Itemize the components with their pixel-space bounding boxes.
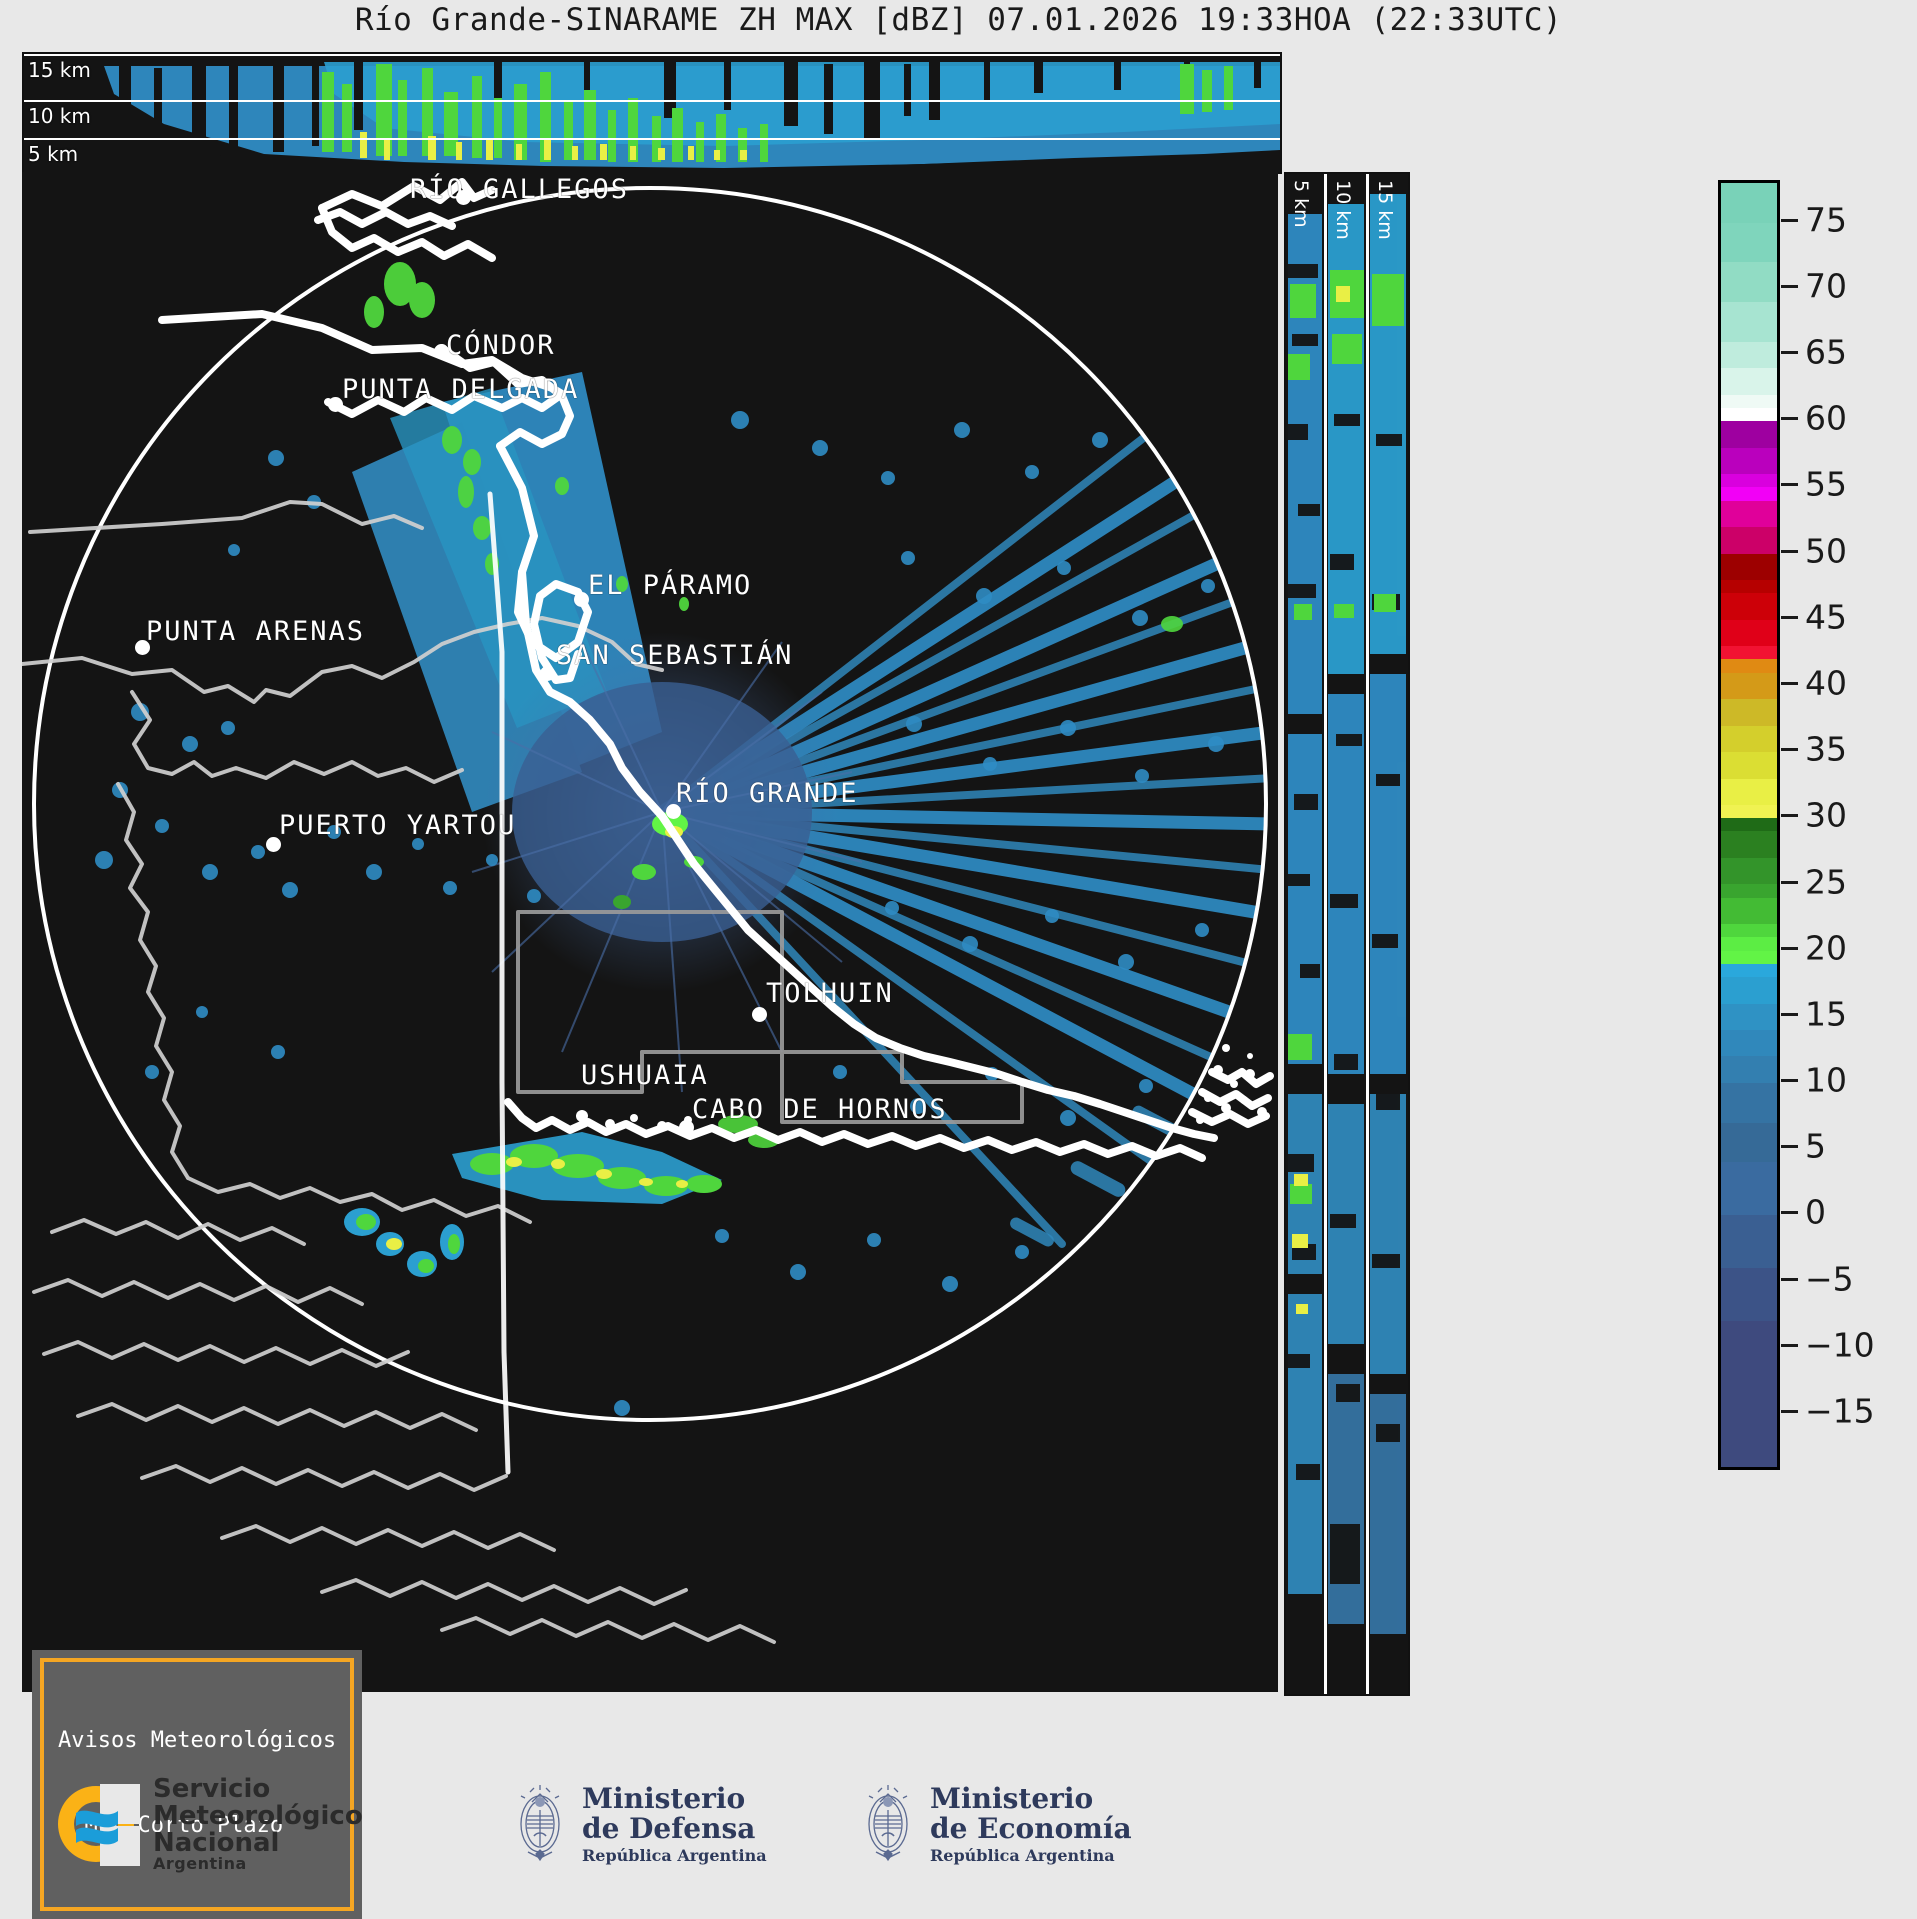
colorbar-segment bbox=[1721, 474, 1777, 487]
side-height-label-15km: 15 km bbox=[1374, 180, 1396, 240]
colorbar-segment bbox=[1721, 937, 1777, 950]
colorbar-segment bbox=[1721, 395, 1777, 408]
colorbar-tick-label: 25 bbox=[1805, 862, 1847, 901]
colorbar-segment bbox=[1721, 262, 1777, 302]
colorbar-tick-label: 60 bbox=[1805, 399, 1847, 438]
gridline-5km bbox=[24, 138, 1280, 140]
colorbar-tick-label: 5 bbox=[1805, 1127, 1826, 1166]
colorbar-segment bbox=[1721, 699, 1777, 725]
place-dot-san-sebastian bbox=[540, 666, 555, 681]
colorbar-tick bbox=[1781, 814, 1798, 817]
colorbar-segment bbox=[1721, 1162, 1777, 1215]
colorbar-segment bbox=[1721, 527, 1777, 553]
defensa-line-2: de Defensa bbox=[582, 1814, 767, 1844]
side-height-label-10km: 10 km bbox=[1332, 180, 1354, 240]
colorbar-segment bbox=[1721, 223, 1777, 263]
place-dot-cabo-de-hornos bbox=[679, 1120, 694, 1135]
height-label-15km: 15 km bbox=[28, 58, 91, 82]
colorbar-segment bbox=[1721, 951, 1777, 964]
top-cross-section-panel: 15 km 10 km 5 km bbox=[22, 52, 1282, 174]
colorbar-tick bbox=[1781, 616, 1798, 619]
place-dot-punta-delgada bbox=[328, 397, 343, 412]
colorbar-segment bbox=[1721, 1030, 1777, 1056]
colorbar-tick-label: 30 bbox=[1805, 796, 1847, 835]
colorbar-ticks: 757065605550454035302520151050−5−10−15 bbox=[1781, 180, 1911, 1470]
smn-logo-icon bbox=[52, 1780, 140, 1868]
colorbar-tick-label: −10 bbox=[1805, 1325, 1875, 1364]
colorbar-tick-label: 10 bbox=[1805, 1061, 1847, 1100]
colorbar-segment bbox=[1721, 183, 1777, 223]
colorbar-segment bbox=[1721, 924, 1777, 937]
colorbar-segment bbox=[1721, 448, 1777, 474]
colorbar bbox=[1718, 180, 1780, 1470]
colorbar-segment bbox=[1721, 964, 1777, 977]
side-height-label-5km: 5 km bbox=[1290, 180, 1312, 228]
colorbar-tick bbox=[1781, 219, 1798, 222]
colorbar-tick bbox=[1781, 1278, 1798, 1281]
colorbar-tick bbox=[1781, 483, 1798, 486]
colorbar-segment bbox=[1721, 501, 1777, 527]
logo-servicio-meteorologico-nacional: Servicio Meteorológico Nacional Argentin… bbox=[52, 1776, 363, 1873]
colorbar-tick bbox=[1781, 1013, 1798, 1016]
side-cross-section-panel: 5 km 10 km 15 km bbox=[1284, 172, 1410, 1696]
colorbar-segment bbox=[1721, 1268, 1777, 1321]
colorbar-tick bbox=[1781, 682, 1798, 685]
colorbar-tick bbox=[1781, 1344, 1798, 1347]
colorbar-segment bbox=[1721, 342, 1777, 368]
smn-line-1: Servicio bbox=[153, 1776, 363, 1803]
colorbar-segment bbox=[1721, 368, 1777, 394]
colorbar-tick bbox=[1781, 1410, 1798, 1413]
ministerio-economia-text: Ministerio de Economía República Argenti… bbox=[930, 1784, 1132, 1864]
smn-line-2: Meteorológico bbox=[153, 1803, 363, 1830]
colorbar-tick-label: 75 bbox=[1805, 200, 1847, 239]
place-dot-rio-gallegos bbox=[456, 190, 471, 205]
colorbar-segment bbox=[1721, 1374, 1777, 1467]
argentina-coat-of-arms-icon-2 bbox=[860, 1780, 916, 1868]
colorbar-segment bbox=[1721, 1123, 1777, 1163]
smn-line-3: Nacional bbox=[153, 1830, 363, 1857]
colorbar-tick-label: 65 bbox=[1805, 333, 1847, 372]
footer-logos: Servicio Meteorológico Nacional Argentin… bbox=[0, 1740, 1917, 1909]
logo-ministerio-de-defensa: Ministerio de Defensa República Argentin… bbox=[512, 1780, 767, 1868]
colorbar-segment bbox=[1721, 977, 1777, 1003]
colorbar-segment bbox=[1721, 593, 1777, 619]
colorbar-segment bbox=[1721, 646, 1777, 659]
place-dot-rio-grande bbox=[666, 804, 681, 819]
side-panel-divider-1 bbox=[1324, 174, 1327, 1694]
smn-logo-text: Servicio Meteorológico Nacional Argentin… bbox=[153, 1776, 363, 1873]
economia-line-3: República Argentina bbox=[930, 1847, 1132, 1864]
economia-line-1: Ministerio bbox=[930, 1784, 1132, 1814]
colorbar-tick bbox=[1781, 947, 1798, 950]
colorbar-segment bbox=[1721, 898, 1777, 924]
colorbar-segment bbox=[1721, 1321, 1777, 1374]
place-dot-tolhuin bbox=[752, 1007, 767, 1022]
colorbar-tick bbox=[1781, 417, 1798, 420]
colorbar-tick-label: 50 bbox=[1805, 531, 1847, 570]
logo-ministerio-de-economia: Ministerio de Economía República Argenti… bbox=[860, 1780, 1132, 1868]
radar-map-canvas bbox=[22, 172, 1278, 1692]
colorbar-tick-label: 15 bbox=[1805, 994, 1847, 1033]
colorbar-segment bbox=[1721, 858, 1777, 884]
colorbar-segment bbox=[1721, 487, 1777, 500]
cross-section-echoes bbox=[24, 54, 1280, 172]
gridline-15km bbox=[24, 54, 1280, 56]
page-title: Río Grande-SINARAME ZH MAX [dBZ] 07.01.2… bbox=[0, 2, 1917, 38]
colorbar-tick bbox=[1781, 881, 1798, 884]
radar-map-panel[interactable]: RÍO GALLEGOS CÓNDOR PUNTA DELGADA PUNTA … bbox=[22, 172, 1278, 1692]
height-label-10km: 10 km bbox=[28, 104, 91, 128]
colorbar-tick-label: −15 bbox=[1805, 1392, 1875, 1431]
colorbar-segment bbox=[1721, 1215, 1777, 1268]
economia-line-2: de Economía bbox=[930, 1814, 1132, 1844]
colorbar-segment bbox=[1721, 620, 1777, 646]
height-label-5km: 5 km bbox=[28, 142, 78, 166]
colorbar-tick bbox=[1781, 1079, 1798, 1082]
colorbar-segment bbox=[1721, 408, 1777, 421]
colorbar-segment bbox=[1721, 1004, 1777, 1030]
colorbar-segment bbox=[1721, 1056, 1777, 1082]
defensa-line-3: República Argentina bbox=[582, 1847, 767, 1864]
colorbar-tick bbox=[1781, 1145, 1798, 1148]
colorbar-segment bbox=[1721, 779, 1777, 805]
side-cross-section-echoes bbox=[1286, 174, 1408, 1694]
place-dot-puerto-yartou bbox=[266, 837, 281, 852]
side-panel-divider-2 bbox=[1366, 174, 1369, 1694]
colorbar-tick bbox=[1781, 1211, 1798, 1214]
place-dot-punta-arenas bbox=[135, 640, 150, 655]
colorbar-segment bbox=[1721, 805, 1777, 818]
place-dot-condor bbox=[434, 344, 449, 359]
smn-line-4: Argentina bbox=[153, 1856, 363, 1872]
colorbar-tick-label: 0 bbox=[1805, 1193, 1826, 1232]
colorbar-tick bbox=[1781, 285, 1798, 288]
colorbar-segment bbox=[1721, 1083, 1777, 1123]
colorbar-segment bbox=[1721, 831, 1777, 857]
colorbar-tick-label: 55 bbox=[1805, 465, 1847, 504]
colorbar-segment bbox=[1721, 421, 1777, 447]
colorbar-tick-label: 40 bbox=[1805, 664, 1847, 703]
argentina-coat-of-arms-icon bbox=[512, 1780, 568, 1868]
colorbar-tick bbox=[1781, 550, 1798, 553]
colorbar-tick bbox=[1781, 351, 1798, 354]
place-dot-el-paramo bbox=[574, 592, 589, 607]
colorbar-segment bbox=[1721, 884, 1777, 897]
colorbar-segment bbox=[1721, 726, 1777, 752]
colorbar-tick bbox=[1781, 748, 1798, 751]
defensa-line-1: Ministerio bbox=[582, 1784, 767, 1814]
colorbar-segment bbox=[1721, 659, 1777, 672]
gridline-10km bbox=[24, 100, 1280, 102]
colorbar-segment bbox=[1721, 673, 1777, 699]
colorbar-segment bbox=[1721, 554, 1777, 580]
colorbar-tick-label: 70 bbox=[1805, 266, 1847, 305]
colorbar-segment bbox=[1721, 580, 1777, 593]
colorbar-tick-label: −5 bbox=[1805, 1259, 1854, 1298]
colorbar-tick-label: 45 bbox=[1805, 597, 1847, 636]
ministerio-defensa-text: Ministerio de Defensa República Argentin… bbox=[582, 1784, 767, 1864]
colorbar-segment bbox=[1721, 752, 1777, 778]
colorbar-tick-label: 35 bbox=[1805, 730, 1847, 769]
colorbar-tick-label: 20 bbox=[1805, 928, 1847, 967]
colorbar-segment bbox=[1721, 818, 1777, 831]
colorbar-segment bbox=[1721, 302, 1777, 342]
